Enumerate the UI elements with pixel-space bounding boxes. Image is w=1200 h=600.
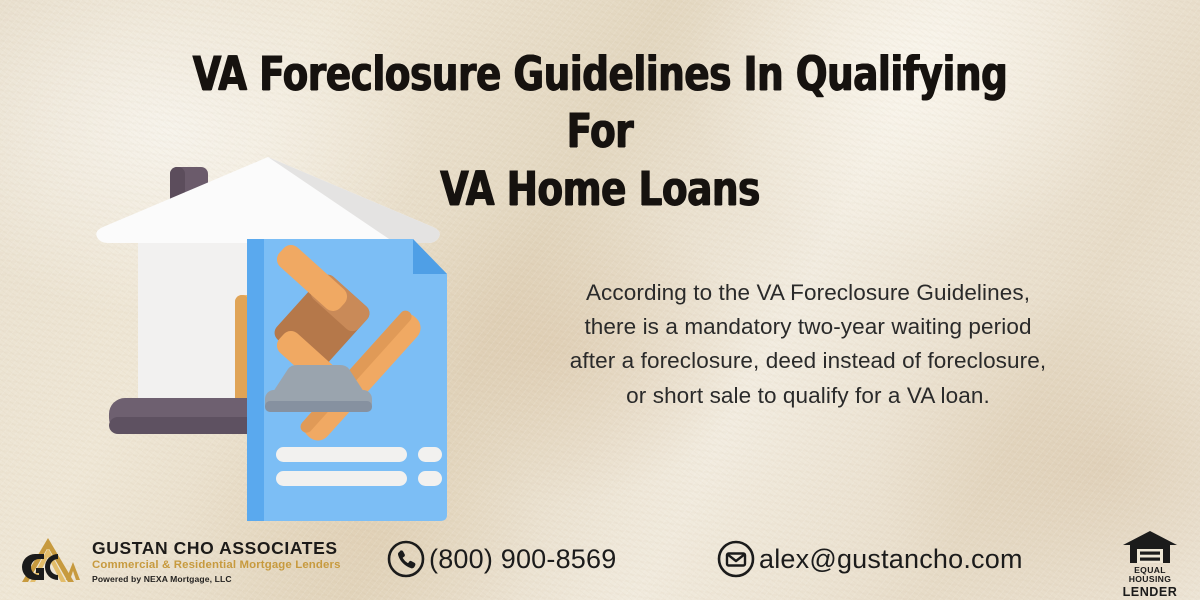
brand-tagline: Commercial & Residential Mortgage Lender… — [92, 558, 341, 573]
phone-number: (800) 900-8569 — [429, 544, 616, 575]
brand-name: GUSTAN CHO ASSOCIATES — [92, 539, 341, 558]
body-paragraph: According to the VA Foreclosure Guidelin… — [520, 276, 1096, 413]
body-line-2: there is a mandatory two-year waiting pe… — [520, 310, 1096, 344]
envelope-circle-icon — [716, 539, 756, 579]
equal-housing-line-2: LENDER — [1112, 585, 1188, 599]
contact-phone[interactable]: (800) 900-8569 — [386, 539, 616, 579]
document-fold-shape — [413, 239, 447, 274]
gca-monogram-icon — [14, 532, 86, 588]
brand-powered-by: Powered by NEXA Mortgage, LLC — [92, 574, 341, 585]
phone-circle-icon — [386, 539, 426, 579]
equal-housing-lender-icon — [1122, 530, 1178, 564]
document-left-edge-shape — [247, 239, 264, 521]
title-line-2: VA Home Loans — [178, 161, 1023, 218]
body-line-3: after a foreclosure, deed instead of for… — [520, 344, 1096, 378]
equal-housing-line-1: EQUAL HOUSING — [1112, 566, 1188, 585]
body-line-1: According to the VA Foreclosure Guidelin… — [520, 276, 1096, 310]
title-line-1: VA Foreclosure Guidelines In Qualifying … — [193, 47, 1008, 159]
brand-logo: GUSTAN CHO ASSOCIATES Commercial & Resid… — [14, 528, 314, 592]
infographic-poster: VA Foreclosure Guidelines In Qualifying … — [0, 0, 1200, 600]
email-address: alex@gustancho.com — [759, 544, 1023, 575]
contact-email[interactable]: alex@gustancho.com — [716, 539, 1023, 579]
page-title: VA Foreclosure Guidelines In Qualifying … — [178, 46, 1023, 218]
equal-housing-lender-badge: EQUAL HOUSING LENDER — [1112, 530, 1188, 592]
body-line-4: or short sale to qualify for a VA loan. — [520, 379, 1096, 413]
brand-text-block: GUSTAN CHO ASSOCIATES Commercial & Resid… — [92, 535, 341, 585]
